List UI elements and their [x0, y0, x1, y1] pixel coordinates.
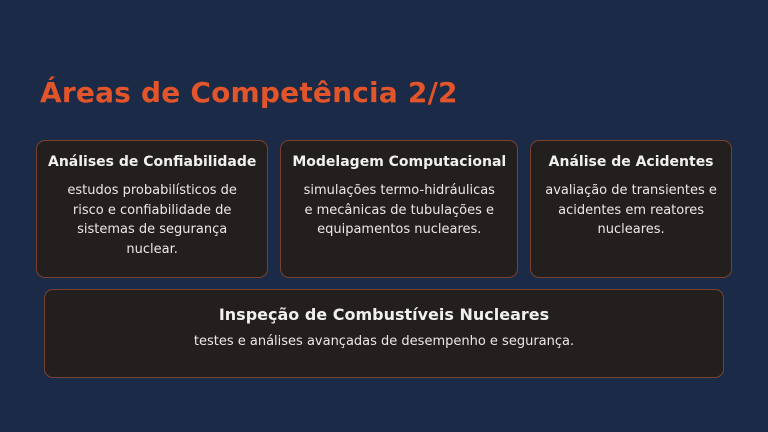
card-heading: Modelagem Computacional [292, 153, 506, 172]
slide-canvas: Áreas de Competência 2/2 Análises de Con… [0, 0, 768, 432]
competency-card-accident-analysis[interactable]: Análise de Acidentes avaliação de transi… [530, 140, 732, 278]
competency-card-fuel-inspection[interactable]: Inspeção de Combustíveis Nucleares teste… [44, 289, 724, 378]
card-body: testes e análises avançadas de desempenh… [194, 332, 574, 352]
competency-card-computational-modeling[interactable]: Modelagem Computacional simulações termo… [280, 140, 518, 278]
card-body: estudos probabilísticos de risco e confi… [52, 181, 252, 259]
page-title: Áreas de Competência 2/2 [40, 76, 458, 110]
competency-card-row: Análises de Confiabilidade estudos proba… [36, 140, 732, 278]
card-body: avaliação de transientes e acidentes em … [542, 181, 720, 240]
card-heading: Inspeção de Combustíveis Nucleares [219, 304, 549, 325]
card-heading: Análises de Confiabilidade [48, 153, 256, 172]
card-heading: Análise de Acidentes [549, 153, 714, 172]
competency-card-reliability[interactable]: Análises de Confiabilidade estudos proba… [36, 140, 268, 278]
card-body: simulações termo-hidráulicas e mecânicas… [299, 181, 499, 240]
